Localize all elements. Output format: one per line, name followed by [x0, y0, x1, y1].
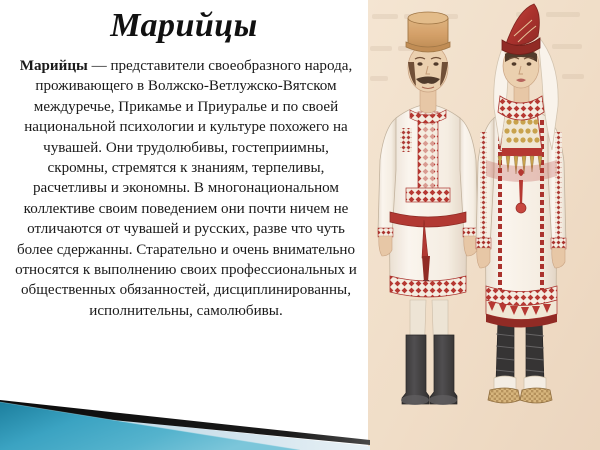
presentation-slide: Марийцы Марийцы — представители своеобра… [0, 0, 600, 450]
body-lead-word: Марийцы [20, 58, 88, 74]
page-title: Марийцы [0, 6, 368, 46]
body-paragraph: Марийцы — представители своеобразного на… [14, 56, 358, 321]
illustration-panel [366, 0, 600, 450]
mari-costume-illustration [366, 0, 600, 450]
body-rest-text: — представители своеобразного народа, пр… [15, 58, 357, 319]
text-panel: Марийцы Марийцы — представители своеобра… [0, 0, 368, 450]
